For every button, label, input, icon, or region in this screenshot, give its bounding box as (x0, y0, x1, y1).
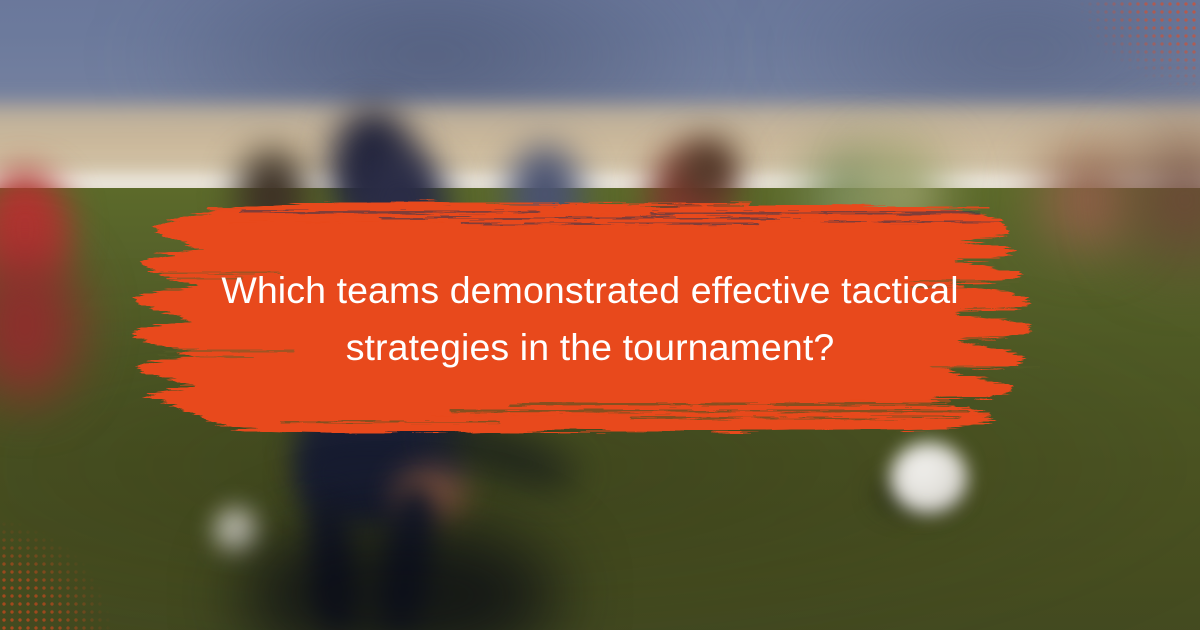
page-title: Which teams demonstrated effective tacti… (175, 262, 1005, 376)
soccer-ball (890, 442, 968, 514)
social-share-card: Which teams demonstrated effective tacti… (0, 0, 1200, 630)
secondary-ball (214, 508, 258, 552)
